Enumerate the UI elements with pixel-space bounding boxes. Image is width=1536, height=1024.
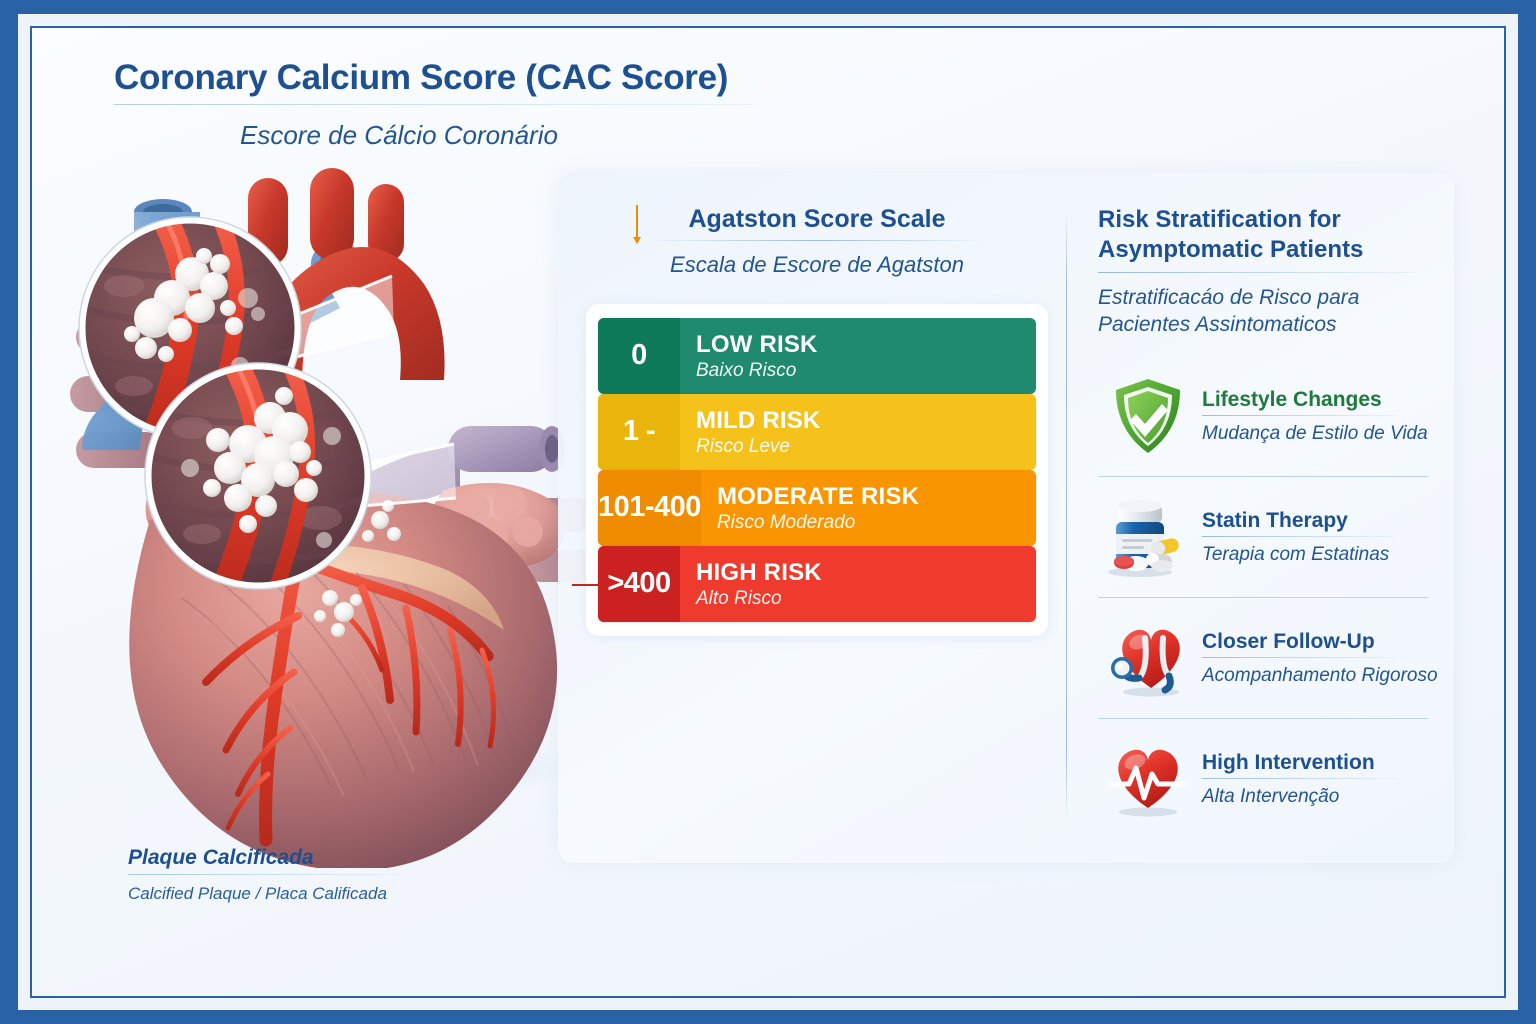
header: Coronary Calcium Score (CAC Score) Escor… [114, 58, 754, 151]
risk-band-label-en: LOW RISK [696, 331, 1036, 359]
inner-frame: Coronary Calcium Score (CAC Score) Escor… [30, 26, 1506, 998]
risk-item-label-en: Closer Follow-Up [1202, 630, 1438, 654]
risk-item-rule [1202, 657, 1398, 658]
risk-item-rule [1202, 536, 1398, 537]
page-title: Coronary Calcium Score (CAC Score) [114, 58, 754, 98]
plaque-caption: Plaque Calcificada Calcified Plaque / Pl… [128, 846, 548, 904]
panel-divider [1066, 211, 1067, 823]
risk-band-value: 0 [598, 318, 680, 394]
heart-ecg-icon [1100, 735, 1196, 823]
risk-item-rule [1202, 778, 1398, 779]
risk-band-value: 1 - [598, 394, 680, 470]
heart-illustration [62, 168, 622, 868]
risk-item-label-pt: Terapia com Estatinas [1202, 544, 1428, 566]
risk-item-closer-follow-up[interactable]: Closer Follow-Up Acompanhamento Rigoroso [1098, 597, 1428, 718]
agatston-scale-section: Agatston Score Scale Escala de Escore de… [586, 205, 1048, 636]
band-tail-line [572, 584, 600, 586]
risk-stratification-section: Risk Stratification for Asymptomatic Pat… [1098, 205, 1428, 839]
risk-band-label-pt: Risco Leve [696, 436, 1036, 458]
risk-band-moderate[interactable]: 101-400 MODERATE RISK Risco Moderado [598, 470, 1036, 546]
scale-heading-pt: Escala de Escore de Agatston [586, 252, 1048, 278]
risk-item-label-pt: Mudança de Estilo de Vida [1202, 423, 1428, 445]
risk-item-lifestyle-changes[interactable]: Lifestyle Changes Mudança de Estilo de V… [1098, 356, 1428, 476]
risk-band-value: 101-400 [598, 470, 701, 546]
risk-items-list: Lifestyle Changes Mudança de Estilo de V… [1098, 356, 1428, 839]
plaque-caption-rule [128, 874, 398, 875]
risk-band-label-en: MILD RISK [696, 407, 1036, 435]
risk-item-rule [1202, 415, 1398, 416]
risk-band-label-en: HIGH RISK [696, 559, 1036, 587]
risk-heading-rule [1098, 272, 1416, 273]
plaque-caption-sub: Calcified Plaque / Placa Calificada [128, 884, 548, 904]
scale-heading-rule [652, 240, 982, 241]
content-panel: Agatston Score Scale Escala de Escore de… [558, 173, 1454, 863]
scale-heading: Agatston Score Scale Escala de Escore de… [586, 205, 1048, 278]
risk-item-statin-therapy[interactable]: Statin Therapy Terapia com Estatinas [1098, 476, 1428, 597]
risk-heading-en: Risk Stratification for Asymptomatic Pat… [1098, 205, 1428, 265]
page-subtitle: Escore de Cálcio Coronário [240, 120, 754, 151]
title-underline [114, 104, 754, 105]
risk-item-label-pt: Alta Intervenção [1202, 786, 1428, 808]
risk-item-label-en: High Intervention [1202, 751, 1428, 775]
risk-band-label-pt: Baixo Risco [696, 360, 1036, 382]
risk-heading-pt: Estratificacáo de Risco para Pacientes A… [1098, 284, 1428, 339]
heart-stethoscope-icon [1100, 614, 1196, 702]
risk-band-high[interactable]: >400 HIGH RISK Alto Risco [598, 546, 1036, 622]
risk-item-label-en: Statin Therapy [1202, 509, 1428, 533]
risk-item-label-pt: Acompanhamento Rigoroso [1202, 665, 1438, 687]
risk-band-label-pt: Alto Risco [696, 588, 1036, 610]
risk-band-label-pt: Risco Moderado [717, 512, 1036, 534]
risk-band-value: >400 [598, 546, 680, 622]
risk-band-label-en: MODERATE RISK [717, 483, 1036, 511]
scale-card: 0 LOW RISK Baixo Risco 1 - [586, 304, 1048, 636]
risk-item-high-intervention[interactable]: High Intervention Alta Intervenção [1098, 718, 1428, 839]
risk-band-mild[interactable]: 1 - MILD RISK Risco Leve [598, 394, 1036, 470]
band-connector-arrow [636, 205, 638, 243]
infographic-root: Coronary Calcium Score (CAC Score) Escor… [0, 0, 1536, 1024]
scale-heading-en: Agatston Score Scale [586, 205, 1048, 234]
pill-bottle-icon [1100, 493, 1196, 581]
shield-check-icon [1100, 372, 1196, 460]
risk-heading: Risk Stratification for Asymptomatic Pat… [1098, 205, 1428, 338]
plaque-caption-main: Plaque Calcificada [128, 846, 548, 870]
risk-band-low[interactable]: 0 LOW RISK Baixo Risco [598, 318, 1036, 394]
risk-item-label-en: Lifestyle Changes [1202, 388, 1428, 412]
